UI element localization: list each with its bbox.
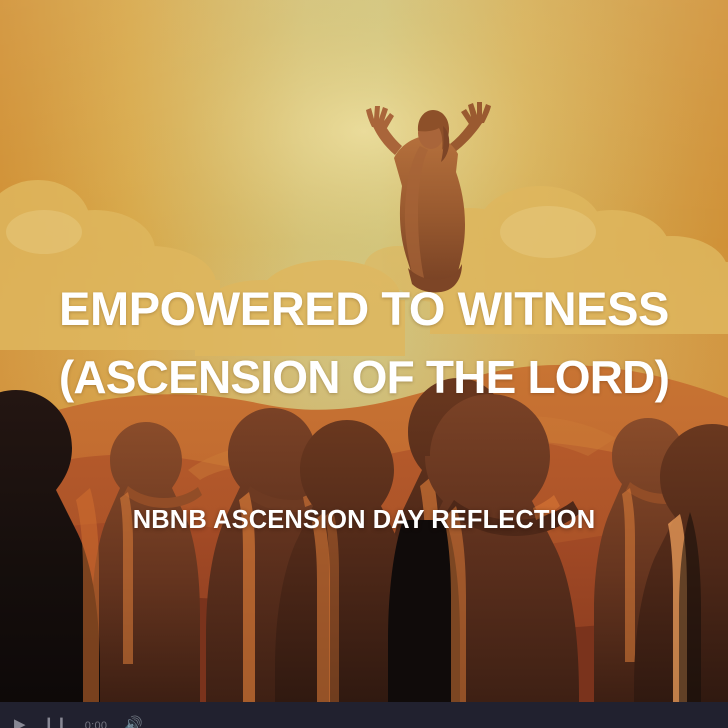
video-frame: EMPOWERED TO WITNESS (ASCENSION OF THE L…	[0, 0, 728, 728]
video-player-bar[interactable]: ▶ ❙❙ 0:00 🔊	[0, 702, 728, 728]
pause-icon[interactable]: ❙❙	[43, 717, 68, 728]
player-controls: ▶ ❙❙ 0:00 🔊	[14, 717, 143, 728]
player-time-display: 0:00	[85, 717, 108, 728]
ascension-illustration	[0, 0, 728, 702]
play-icon[interactable]: ▶	[14, 717, 26, 728]
volume-icon[interactable]: 🔊	[124, 717, 143, 728]
